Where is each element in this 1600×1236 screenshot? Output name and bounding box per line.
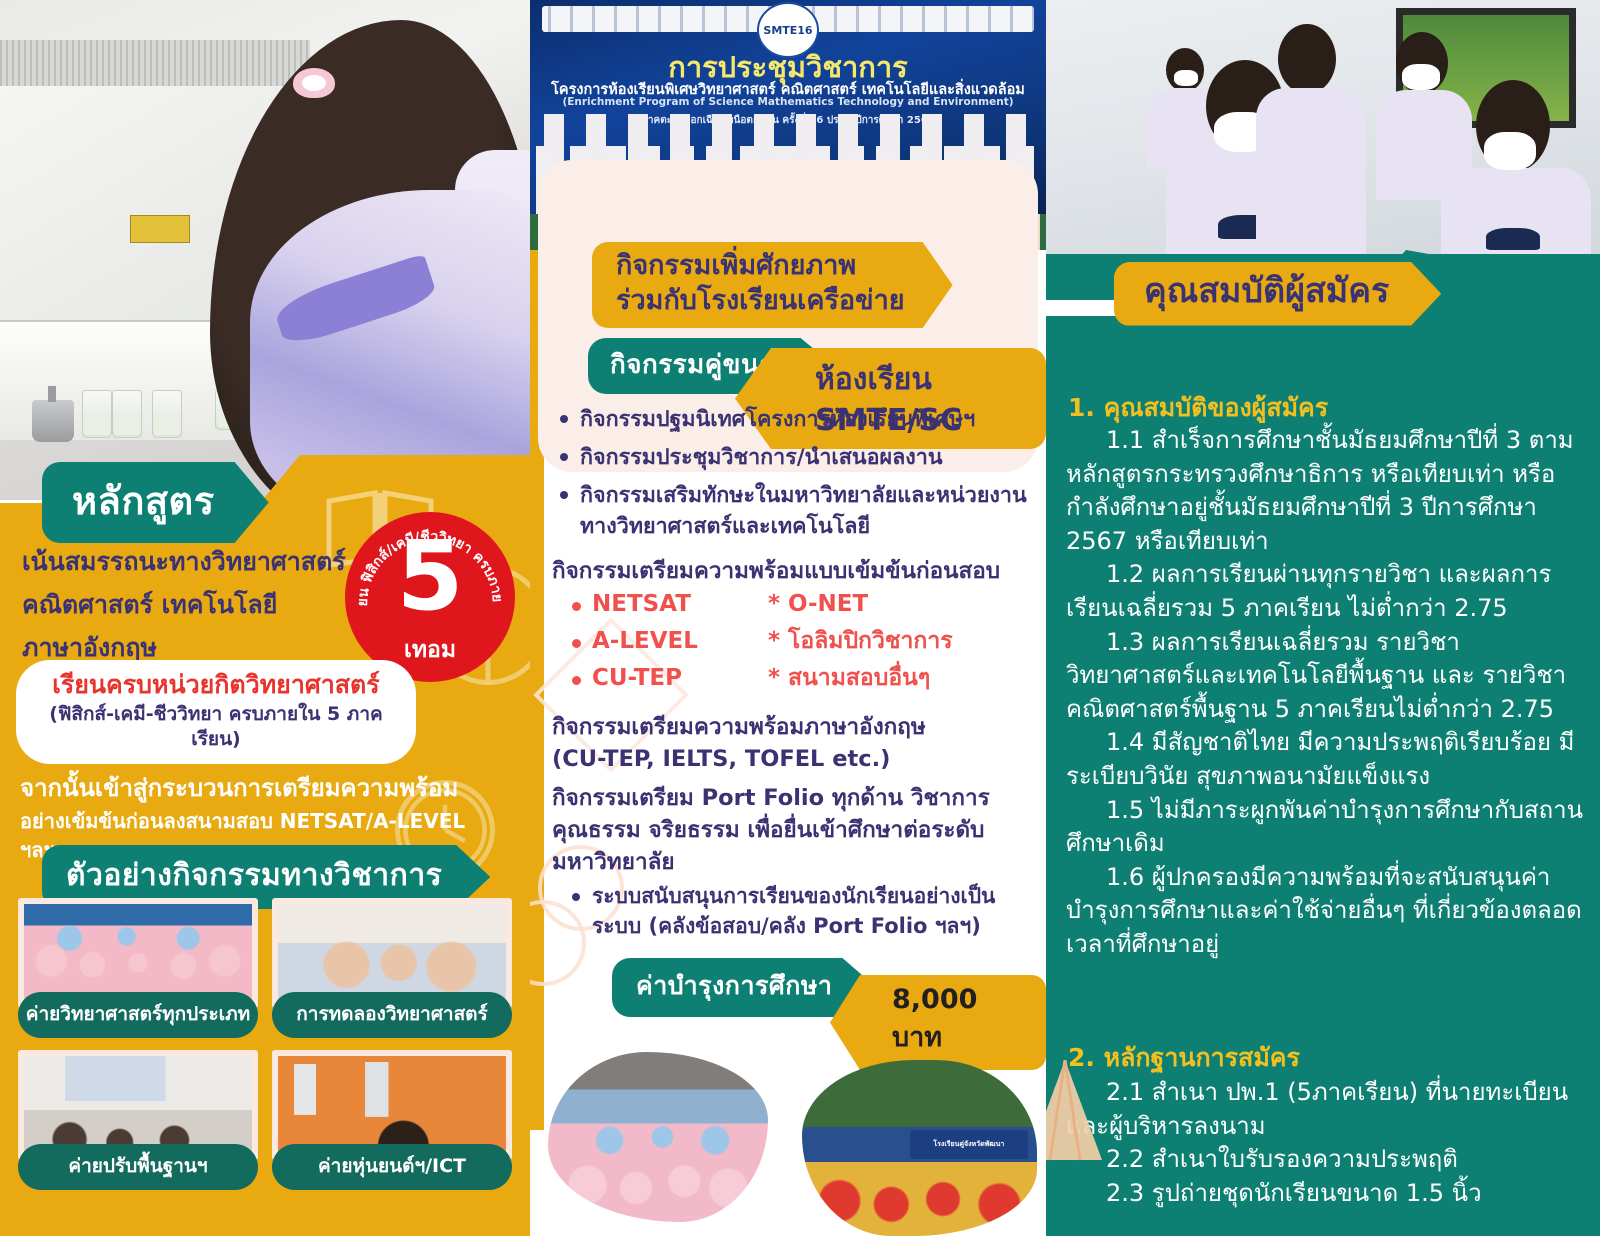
fee-label: ค่าบำรุงการศึกษา — [612, 958, 876, 1017]
fee-amount: 8,000 บาท — [830, 975, 1046, 1070]
portfolio-block: กิจกรรมเตรียม Port Folio ทุกด้าน วิชาการ… — [552, 783, 1038, 879]
english-prep-line2: (CU-TEP, IELTS, TOFEL etc.) — [552, 744, 1032, 776]
portfolio-line2: คุณธรรม จริยธรรม เพื่อยื่นเข้าศึกษาต่อระ… — [552, 815, 1038, 847]
section2-items: 2.1 สำเนา ปพ.1 (5ภาคเรียน) ที่นายทะเบียน… — [1066, 1076, 1586, 1210]
alcohol-burner-icon — [32, 400, 74, 442]
science-lab-photo — [0, 0, 530, 500]
enhancement-heading-line1: กิจกรรมเพิ่มศักยภาพ — [616, 250, 856, 281]
credits-highlight-pill: เรียนครบหน่วยกิตวิทยาศาสตร์ (ฟิสิกส์-เคม… — [16, 660, 416, 764]
conference-subtitle-en: (Enrichment Program of Science Mathemati… — [530, 96, 1046, 108]
credits-highlight-line2: (ฟิสิกส์-เคมี-ชีววิทยา ครบภายใน 5 ภาคเรี… — [34, 702, 398, 751]
activity-photo-grid: ค่ายวิทยาศาสตร์ทุกประเภท การทดลองวิทยาศา… — [18, 898, 512, 1202]
face-mask-icon — [1402, 64, 1440, 90]
specimen-jar — [112, 390, 142, 438]
photo-caption-2: การทดลองวิทยาศาสตร์ — [272, 992, 512, 1038]
enhancement-heading-label: กิจกรรมเพิ่มศักยภาพ ร่วมกับโรงเรียนเครือ… — [592, 242, 953, 328]
student-head — [1278, 24, 1336, 94]
activity-bullet-3: กิจกรรมเสริมทักษะในมหาวิทยาลัยและหน่วยงา… — [554, 480, 1030, 544]
five-terms-badge: เรียน ฟิสิกส์/เคมี/ชีววิทยา ครบภายใน 5 เ… — [345, 512, 515, 682]
qualification-item-1-4: 1.4 มีสัญชาติไทย มีความประพฤติเรียบร้อย … — [1066, 726, 1586, 793]
portfolio-line3: มหาวิทยาลัย — [552, 847, 1038, 879]
exam-netsat: NETSAT — [568, 586, 768, 623]
hood-grille — [0, 40, 310, 86]
activity-bullet-1: กิจกรรมปฐมนิเทศโครงการห้องเรียนพิเศษฯ — [554, 404, 1030, 436]
exam-alevel: A-LEVEL — [568, 623, 768, 660]
exam-other: * สนามสอบอื่นๆ — [768, 660, 1028, 697]
photo-card: ค่ายปรับพื้นฐานฯ — [18, 1050, 258, 1190]
exam-onet: * O-NET — [768, 586, 1028, 623]
qualification-item-1-6: 1.6 ผู้ปกครองมีความพร้อมที่จะสนับสนุนค่า… — [1066, 861, 1586, 962]
activity-bullet-list: กิจกรรมปฐมนิเทศโครงการห้องเรียนพิเศษฯ กิ… — [554, 404, 1030, 549]
exam-list: NETSAT A-LEVEL CU-TEP * O-NET * โอลิมปิก… — [568, 586, 1038, 696]
photo-row: ค่ายวิทยาศาสตร์ทุกประเภท การทดลองวิทยาศา… — [18, 898, 512, 1038]
specimen-jar — [152, 390, 182, 438]
partner-school-sign: โรงเรียนคู่จังหวัดพัฒนา — [910, 1130, 1028, 1158]
hood-warning-label — [130, 215, 190, 243]
student-body — [1256, 88, 1366, 268]
exam-cutep: CU-TEP — [568, 660, 768, 697]
exam-list-left: NETSAT A-LEVEL CU-TEP — [568, 586, 768, 696]
support-line1: ระบบสนับสนุนการเรียนของนักเรียนอย่างเป็น — [592, 884, 995, 908]
hair-clip-icon — [293, 68, 335, 98]
exam-olympiad: * โอลิมปิกวิชาการ — [768, 623, 1028, 660]
preparation-note-line1: จากนั้นเข้าสู่กระบวนการเตรียมความพร้อม — [20, 772, 490, 804]
portfolio-line1: กิจกรรมเตรียม Port Folio ทุกด้าน วิชาการ — [552, 783, 1038, 815]
orientation-group-photo — [548, 1052, 768, 1222]
qualifications-heading-label: คุณสมบัติผู้สมัคร — [1114, 262, 1441, 326]
specimen-jar — [82, 390, 112, 438]
classroom-photo — [1046, 0, 1600, 300]
face-mask-icon — [1174, 70, 1198, 86]
curriculum-heading-tag: หลักสูตร — [42, 462, 269, 543]
curriculum-heading-label: หลักสูตร — [42, 462, 269, 543]
photo-caption-1: ค่ายวิทยาศาสตร์ทุกประเภท — [18, 992, 258, 1038]
english-prep-block: กิจกรรมเตรียมความพร้อมภาษาอังกฤษ (CU-TEP… — [552, 712, 1032, 776]
qualification-item-1-2: 1.2 ผลการเรียนผ่านทุกรายวิชา และผลการเรี… — [1066, 558, 1586, 625]
qualifications-heading-tag: คุณสมบัติผู้สมัคร — [1114, 262, 1441, 326]
poster-root: หลักสูตร เน้นสมรรถนะทางวิทยาศาสตร์ คณิตศ… — [0, 0, 1600, 1236]
enhancement-heading-tag: กิจกรรมเพิ่มศักยภาพ ร่วมกับโรงเรียนเครือ… — [592, 242, 953, 328]
document-item-2-2: 2.2 สำเนาใบรับรองความประพฤติ — [1066, 1143, 1586, 1177]
qualification-item-1-1: 1.1 สำเร็จการศึกษาชั้นมัธยมศึกษาปีที่ 3 … — [1066, 424, 1586, 558]
enhancement-heading-line2: ร่วมกับโรงเรียนเครือข่าย — [616, 285, 905, 316]
middle-column: SMTE16 การประชุมวิชาการ โครงการห้องเรียน… — [530, 0, 1046, 1236]
section1-items: 1.1 สำเร็จการศึกษาชั้นมัธยมศึกษาปีที่ 3 … — [1066, 424, 1586, 962]
photo-card: ค่ายวิทยาศาสตร์ทุกประเภท — [18, 898, 258, 1038]
left-column: หลักสูตร เน้นสมรรถนะทางวิทยาศาสตร์ คณิตศ… — [0, 0, 530, 1236]
student-uniform — [250, 190, 530, 500]
badge-number: 5 — [345, 528, 515, 624]
photo-caption-3: ค่ายปรับพื้นฐานฯ — [18, 1144, 258, 1190]
qualification-item-1-3: 1.3 ผลการเรียนเฉลี่ยรวม รายวิชาวิทยาศาสต… — [1066, 626, 1586, 727]
face-mask-icon — [1484, 132, 1536, 170]
support-system-list: ระบบสนับสนุนการเรียนของนักเรียนอย่างเป็น… — [566, 882, 1038, 942]
right-column: คุณสมบัติผู้สมัคร 1. คุณสมบัติของผู้สมัค… — [1046, 0, 1600, 1236]
credits-highlight-line1: เรียนครบหน่วยกิตวิทยาศาสตร์ — [34, 669, 398, 700]
english-prep-line1: กิจกรรมเตรียมความพร้อมภาษาอังกฤษ — [552, 712, 1032, 744]
cone-decoration-icon — [1046, 1060, 1110, 1170]
exam-list-right: * O-NET * โอลิมปิกวิชาการ * สนามสอบอื่นๆ — [768, 586, 1028, 696]
document-item-2-3: 2.3 รูปถ่ายชุดนักเรียนขนาด 1.5 นิ้ว — [1066, 1177, 1586, 1211]
uniform-bow-icon — [1486, 228, 1540, 250]
photo-card: การทดลองวิทยาศาสตร์ — [272, 898, 512, 1038]
support-line2: ระบบ (คลังข้อสอบ/คลัง Port Folio ฯลฯ) — [592, 914, 981, 938]
qualification-item-1-5: 1.5 ไม่มีภาระผูกพันค่าบำรุงการศึกษากับสถ… — [1066, 794, 1586, 861]
section1-title: 1. คุณสมบัติของผู้สมัคร — [1068, 388, 1328, 428]
activity-bullet-2: กิจกรรมประชุมวิชาการ/นำเสนอผลงาน — [554, 442, 1030, 474]
document-item-2-1: 2.1 สำเนา ปพ.1 (5ภาคเรียน) ที่นายทะเบียน… — [1066, 1076, 1586, 1143]
intensive-prep-heading: กิจกรรมเตรียมความพร้อมแบบเข้มข้นก่อนสอบ — [552, 552, 1000, 588]
photo-card: ค่ายหุ่นยนต์ฯ/ICT — [272, 1050, 512, 1190]
partner-school-photo: โรงเรียนคู่จังหวัดพัฒนา — [802, 1060, 1037, 1236]
support-system-item: ระบบสนับสนุนการเรียนของนักเรียนอย่างเป็น… — [566, 882, 1038, 942]
photo-row: ค่ายปรับพื้นฐานฯ ค่ายหุ่นยนต์ฯ/ICT — [18, 1050, 512, 1190]
photo-caption-4: ค่ายหุ่นยนต์ฯ/ICT — [272, 1144, 512, 1190]
fee-label-tag: ค่าบำรุงการศึกษา — [612, 958, 876, 1017]
